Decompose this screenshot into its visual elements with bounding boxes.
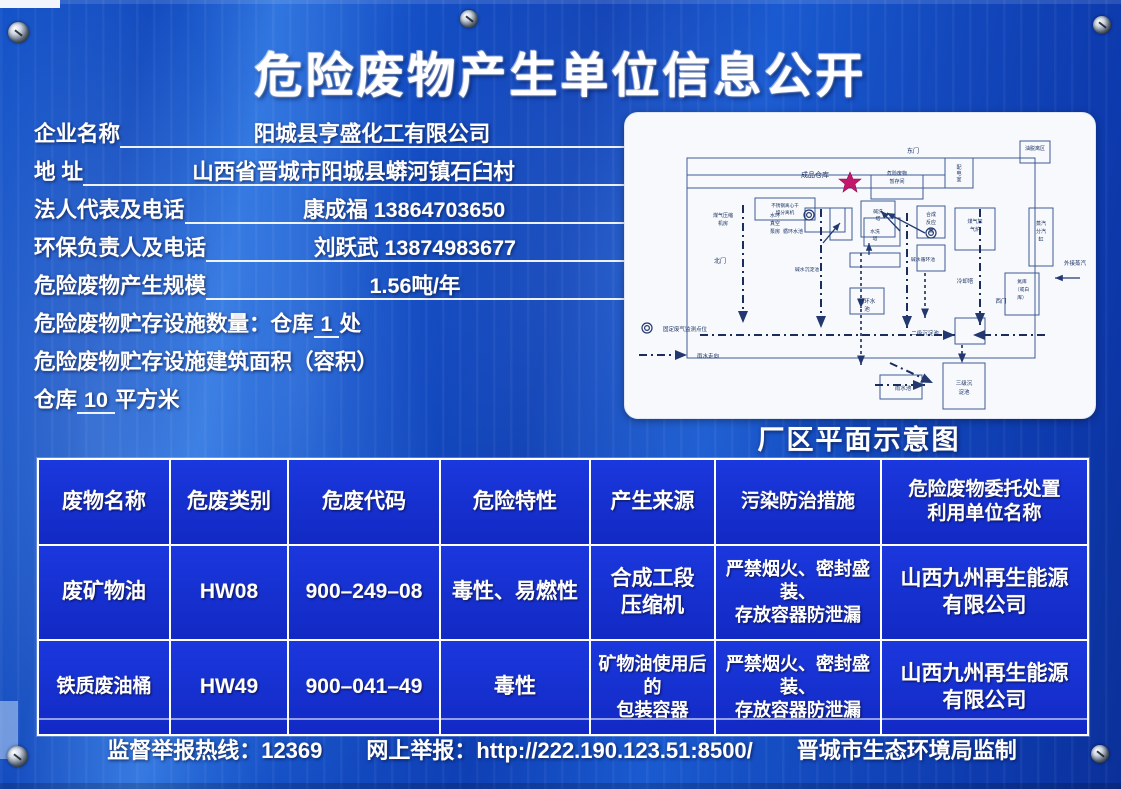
board-bottom-edge	[0, 783, 1121, 789]
svg-text:室: 室	[956, 176, 961, 183]
svg-text:气炉: 气炉	[970, 226, 980, 233]
info-row-storage-area-label: 危险废物贮存设施建筑面积（容积）	[34, 338, 624, 376]
header-line-2: 利用单位名称	[885, 502, 1084, 526]
cell-hazard-property: 毒性、易燃性	[440, 545, 590, 640]
cell-line-2: 存放容器防泄漏	[719, 604, 877, 627]
cell-waste-name: 废矿物油	[38, 545, 170, 640]
table-row: 废矿物油 HW08 900–249–08 毒性、易燃性 合成工段 压缩机 严禁烟…	[38, 545, 1088, 640]
column-header-waste-category: 危废类别	[170, 459, 288, 545]
svg-text:煤气加: 煤气加	[967, 218, 982, 225]
svg-text:西门: 西门	[995, 297, 1006, 305]
svg-text:真空: 真空	[770, 220, 780, 227]
svg-text:塔: 塔	[876, 215, 881, 222]
cell-measures: 严禁烟火、密封盛装、 存放容器防泄漏	[715, 545, 881, 640]
svg-text:北门: 北门	[714, 257, 726, 265]
svg-text:氮库: 氮库	[1017, 278, 1027, 285]
svg-text:蒸汽: 蒸汽	[1036, 220, 1046, 227]
info-row-storage-count: 危险废物贮存设施数量：仓库 1 处	[34, 300, 624, 338]
company-info-block: 企业名称 阳城县亨盛化工有限公司 地 址 山西省晋城市阳城县蟒河镇石臼村 法人代…	[34, 110, 624, 414]
table-header-row: 废物名称 危废类别 危废代码 危险特性 产生来源 污染防治措施 危险废物委托处置…	[38, 459, 1088, 545]
cell-waste-category: HW49	[170, 640, 288, 735]
column-header-source: 产生来源	[590, 459, 715, 545]
svg-text:成品仓库: 成品仓库	[801, 170, 829, 179]
svg-text:碱水循环池: 碱水循环池	[911, 256, 935, 263]
information-board: 危险废物产生单位信息公开 企业名称 阳城县亨盛化工有限公司 地 址 山西省晋城市…	[0, 0, 1121, 789]
cell-line-1: 合成工段	[594, 566, 711, 593]
info-value: 山西省晋城市阳城县蟒河镇石臼村	[83, 161, 624, 186]
cell-source: 矿物油使用后的 包装容器	[590, 640, 715, 735]
svg-text:煤气压缩: 煤气压缩	[713, 212, 733, 219]
svg-text:泵房: 泵房	[770, 228, 780, 235]
svg-text:不锈钢离心干: 不锈钢离心干	[771, 202, 799, 209]
column-header-disposal-unit: 危险废物委托处置 利用单位名称	[881, 459, 1088, 545]
svg-text:水洗: 水洗	[870, 228, 880, 235]
info-value: 康成福 13864703650	[185, 199, 624, 224]
info-value: 阳城县亨盛化工有限公司	[120, 123, 624, 148]
info-label: 地 址	[34, 155, 83, 186]
info-row-company-name: 企业名称 阳城县亨盛化工有限公司	[34, 110, 624, 148]
svg-text:库）: 库）	[1017, 294, 1027, 301]
svg-text:循环水: 循环水	[859, 297, 876, 305]
footer-online-report[interactable]: 网上举报：http://222.190.123.51:8500/	[366, 733, 752, 765]
cell-line-1: 矿物油使用后的	[594, 653, 711, 699]
svg-text:缸: 缸	[1038, 236, 1043, 243]
svg-text:碱水沉淀池: 碱水沉淀池	[795, 266, 819, 273]
table-row: 铁质废油桶 HW49 900–041–49 毒性 矿物油使用后的 包装容器 严禁…	[38, 640, 1088, 735]
svg-text:雨水池: 雨水池	[895, 384, 912, 392]
site-plan-caption: 厂区平面示意图	[624, 418, 1094, 457]
cell-waste-code: 900–249–08	[288, 545, 440, 640]
info-label: 危险废物贮存设施建筑面积（容积）	[34, 345, 378, 376]
cell-line-2: 压缩机	[594, 593, 711, 620]
svg-text:油脱离区: 油脱离区	[1025, 145, 1045, 152]
header-line-1: 危险废物委托处置	[885, 478, 1084, 502]
svg-text:分汽: 分汽	[1036, 228, 1046, 235]
svg-text:反应: 反应	[926, 219, 936, 226]
svg-text:外接蒸汽: 外接蒸汽	[1064, 259, 1087, 267]
info-value: 1	[314, 313, 340, 338]
cell-disposal-unit: 山西九州再生能源 有限公司	[881, 640, 1088, 735]
cell-line-1: 山西九州再生能源	[885, 661, 1084, 688]
info-label: 危险废物产生规模	[34, 269, 206, 300]
svg-text:淀池: 淀池	[958, 388, 970, 396]
info-label: 危险废物贮存设施数量：仓库	[34, 307, 314, 338]
svg-text:东门: 东门	[907, 147, 919, 155]
board-top-left-edge	[0, 0, 60, 8]
svg-text:二级沉淀池: 二级沉淀池	[911, 329, 939, 337]
svg-text:循环水池: 循环水池	[783, 228, 803, 235]
cell-measures: 严禁烟火、密封盛装、 存放容器防泄漏	[715, 640, 881, 735]
board-top-edge	[0, 0, 1121, 4]
screw-icon	[7, 746, 28, 767]
svg-text:暂存间: 暂存间	[889, 178, 904, 185]
cell-source: 合成工段 压缩机	[590, 545, 715, 640]
footer-divider	[37, 718, 1087, 720]
cell-line-2: 有限公司	[885, 688, 1084, 715]
svg-text:合成: 合成	[926, 211, 936, 218]
info-label: 环保负责人及电话	[34, 231, 206, 262]
cell-line-1: 山西九州再生能源	[885, 566, 1084, 593]
info-label: 仓库	[34, 383, 77, 414]
info-unit: 平方米	[115, 383, 180, 414]
info-value: 1.56吨/年	[206, 275, 624, 300]
info-value: 刘跃武 13874983677	[206, 237, 624, 262]
info-row-address: 地 址 山西省晋城市阳城县蟒河镇石臼村	[34, 148, 624, 186]
info-value: 10	[77, 389, 115, 414]
info-row-storage-area: 仓库 10 平方米	[34, 376, 624, 414]
column-header-hazard-property: 危险特性	[440, 459, 590, 545]
page-title: 危险废物产生单位信息公开	[0, 36, 1121, 106]
svg-text:电: 电	[956, 170, 961, 177]
svg-text:（或白: （或白	[1015, 286, 1030, 293]
svg-text:水环: 水环	[770, 212, 780, 219]
info-unit: 处	[339, 307, 361, 338]
footer-bar: 监督举报热线：12369 网上举报：http://222.190.123.51:…	[37, 727, 1087, 771]
site-plan-diagram: 成品仓库 配 电 室 油脱离区 东门 危险废物 暂存间 不锈钢离心干 燥分离机 …	[624, 112, 1094, 417]
legend-text-rainflow: 雨水走向	[697, 352, 719, 360]
cell-hazard-property: 毒性	[440, 640, 590, 735]
info-row-generation-scale: 危险废物产生规模 1.56吨/年	[34, 262, 624, 300]
svg-text:危险废物: 危险废物	[887, 170, 907, 177]
svg-text:器: 器	[928, 228, 933, 234]
cell-waste-name: 铁质废油桶	[38, 640, 170, 735]
info-row-legal-rep: 法人代表及电话 康成福 13864703650	[34, 186, 624, 224]
hazardous-waste-table: 废物名称 危废类别 危废代码 危险特性 产生来源 污染防治措施 危险废物委托处置…	[37, 458, 1087, 736]
info-row-env-officer: 环保负责人及电话 刘跃武 13874983677	[34, 224, 624, 262]
svg-text:机房: 机房	[718, 220, 728, 227]
cell-waste-category: HW08	[170, 545, 288, 640]
footer-hotline: 监督举报热线：12369	[107, 733, 322, 765]
cell-line-1: 严禁烟火、密封盛装、	[719, 558, 877, 604]
cell-line-2: 有限公司	[885, 593, 1084, 620]
cell-waste-code: 900–041–49	[288, 640, 440, 735]
info-label: 法人代表及电话	[34, 193, 185, 224]
svg-text:池: 池	[864, 305, 870, 313]
info-label: 企业名称	[34, 117, 120, 148]
cell-disposal-unit: 山西九州再生能源 有限公司	[881, 545, 1088, 640]
svg-text:冷却塔: 冷却塔	[957, 277, 974, 285]
column-header-waste-name: 废物名称	[38, 459, 170, 545]
column-header-waste-code: 危废代码	[288, 459, 440, 545]
svg-text:塔: 塔	[873, 235, 878, 242]
screw-icon	[1091, 745, 1109, 763]
footer-authority: 晋城市生态环境局监制	[797, 733, 1017, 765]
site-plan-canvas: 成品仓库 配 电 室 油脱离区 东门 危险废物 暂存间 不锈钢离心干 燥分离机 …	[624, 112, 1096, 419]
svg-text:三级沉: 三级沉	[956, 379, 973, 387]
screw-icon	[1093, 16, 1111, 34]
column-header-measures: 污染防治措施	[715, 459, 881, 545]
screw-icon	[460, 10, 478, 28]
legend-text-monitoring: 固定废气监测点位	[663, 325, 708, 333]
cell-line-1: 严禁烟火、密封盛装、	[719, 653, 877, 699]
svg-text:碱洗: 碱洗	[873, 208, 883, 215]
